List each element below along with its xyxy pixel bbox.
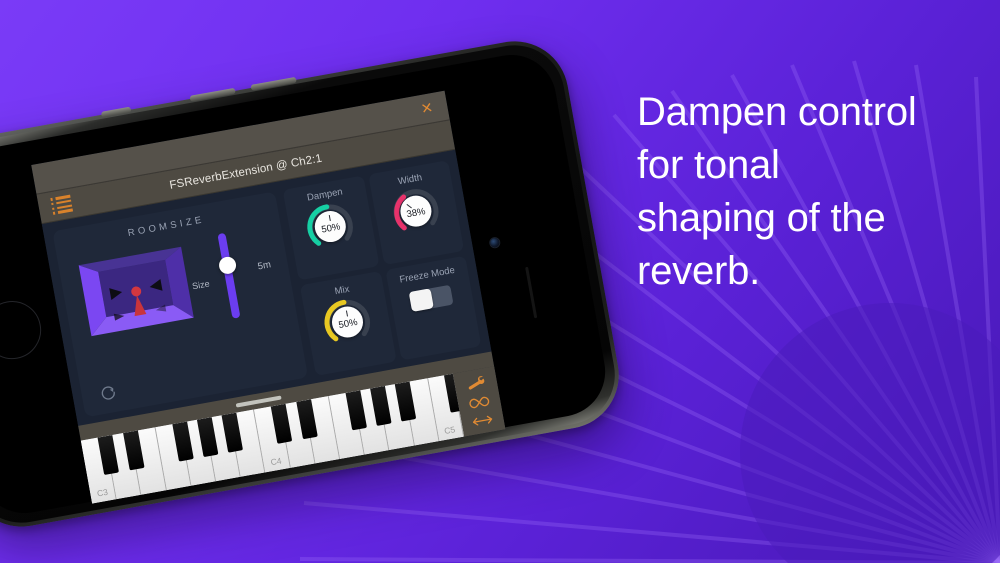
home-button[interactable]	[0, 296, 46, 363]
refresh-reset-icon[interactable]	[98, 383, 118, 403]
infinity-icon[interactable]	[467, 395, 491, 411]
room-visualizer[interactable]	[74, 246, 187, 344]
control-dampen[interactable]: Dampen 50%	[283, 176, 380, 281]
width-knob[interactable]: 38%	[388, 184, 443, 239]
mix-label: Mix	[334, 284, 350, 297]
freeze-mode-toggle[interactable]	[409, 285, 454, 312]
dampen-value: 50%	[321, 221, 342, 235]
width-label: Width	[397, 172, 423, 187]
size-value: 5m	[257, 259, 272, 272]
freeze-mode-label: Freeze Mode	[399, 265, 456, 286]
close-icon[interactable]: ×	[415, 96, 439, 120]
size-slider[interactable]	[217, 233, 240, 319]
width-value: 38%	[406, 206, 427, 220]
freeze-mode-toggle-knob	[409, 288, 434, 312]
dampen-knob[interactable]: 50%	[303, 199, 358, 254]
mix-value: 50%	[338, 317, 359, 331]
mix-knob[interactable]: 50%	[320, 295, 375, 350]
controls-grid: Dampen 50%	[283, 160, 482, 376]
control-freeze-mode[interactable]: Freeze Mode	[385, 256, 482, 361]
width-knob-tick	[407, 204, 413, 209]
roomsize-panel: ROOMSIZE	[52, 191, 308, 417]
sunburst-core	[740, 303, 1000, 563]
earpiece-speaker	[525, 267, 537, 319]
resize-arrows-icon[interactable]	[471, 414, 495, 429]
headline-text: Dampen control for tonal shaping of the …	[637, 86, 977, 298]
dampen-knob-tick	[329, 215, 331, 221]
size-slider-thumb[interactable]	[217, 256, 237, 276]
wrench-icon[interactable]	[466, 375, 486, 391]
phone-screen: × FSReverbExtension @ Ch2:1	[31, 91, 505, 504]
mix-knob-tick	[346, 310, 348, 316]
size-label: Size	[191, 278, 210, 291]
control-width[interactable]: Width 38%	[368, 160, 465, 265]
control-mix[interactable]: Mix 50%	[300, 271, 397, 376]
front-camera-icon	[490, 237, 500, 247]
key-label-c5: C5	[437, 423, 463, 437]
key-label-c4: C4	[263, 454, 289, 468]
key-label-c3: C3	[90, 486, 116, 500]
